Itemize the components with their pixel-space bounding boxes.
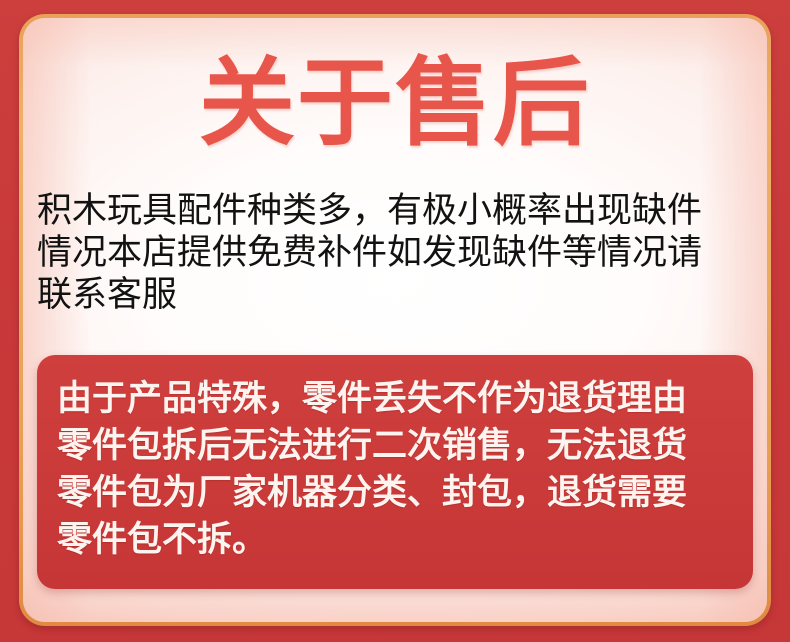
poster-content: 关于售后 积木玩具配件种类多，有极小概率出现缺件 情况本店提供免费补件如发现缺件… (0, 0, 790, 642)
body-paragraph: 积木玩具配件种类多，有极小概率出现缺件 情况本店提供免费补件如发现缺件等情况请 … (37, 190, 760, 316)
notice-line-2: 零件包拆后无法进行二次销售，无法退货 (57, 422, 741, 469)
notice-text-block: 由于产品特殊，零件丢失不作为退货理由 零件包拆后无法进行二次销售，无法退货 零件… (57, 375, 741, 563)
page-title: 关于售后 (0, 48, 790, 160)
return-policy-notice-box: 由于产品特殊，零件丢失不作为退货理由 零件包拆后无法进行二次销售，无法退货 零件… (37, 355, 753, 589)
body-line-1: 积木玩具配件种类多，有极小概率出现缺件 (37, 190, 760, 232)
body-line-3: 联系客服 (37, 274, 760, 316)
body-line-2: 情况本店提供免费补件如发现缺件等情况请 (37, 232, 760, 274)
notice-line-4: 零件包不拆。 (57, 516, 741, 563)
notice-line-1: 由于产品特殊，零件丢失不作为退货理由 (57, 375, 741, 422)
notice-line-3: 零件包为厂家机器分类、封包，退货需要 (57, 469, 741, 516)
after-sales-policy-poster: 关于售后 积木玩具配件种类多，有极小概率出现缺件 情况本店提供免费补件如发现缺件… (0, 0, 790, 642)
